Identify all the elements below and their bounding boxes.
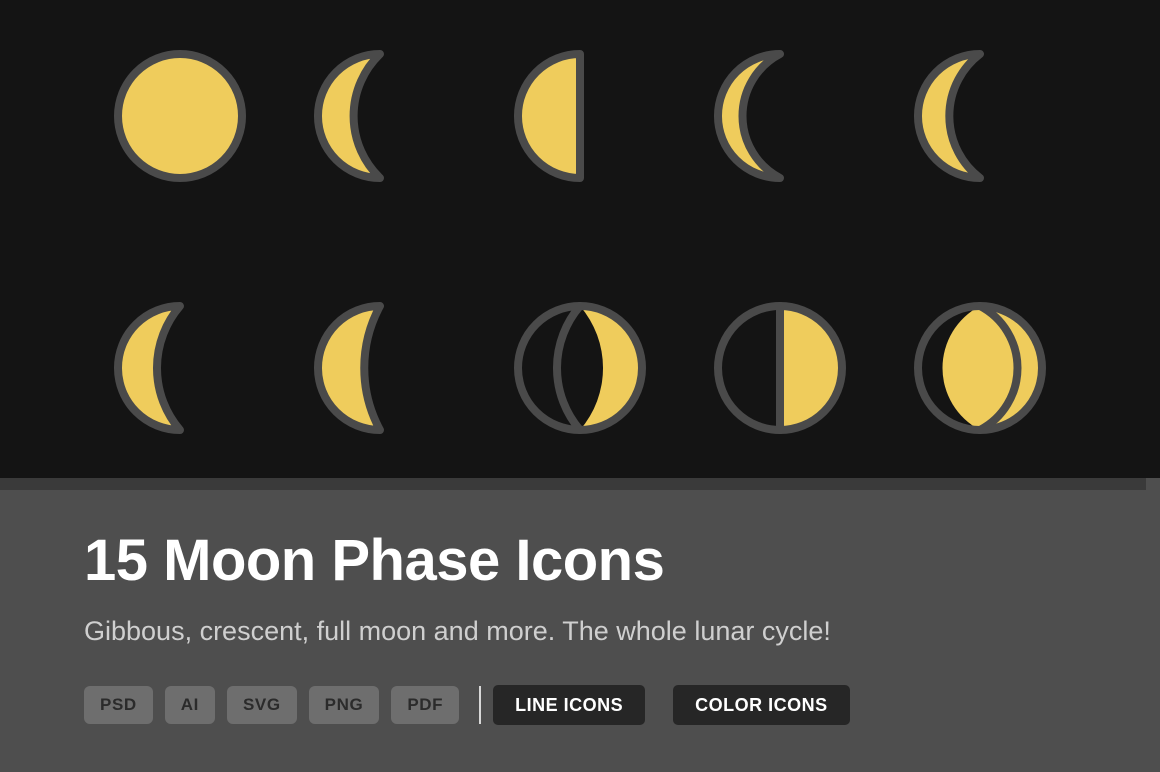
page-title: 15 Moon Phase Icons (84, 532, 664, 590)
page-subtitle: Gibbous, crescent, full moon and more. T… (84, 618, 831, 645)
color-icons-button[interactable]: COLOR ICONS (673, 685, 850, 725)
action-bar: PSD AI SVG PNG PDF LINE ICONS COLOR ICON… (84, 685, 878, 725)
preview-root: 15 Moon Phase Icons Gibbous, crescent, f… (0, 0, 1160, 772)
line-icons-button[interactable]: LINE ICONS (493, 685, 645, 725)
half-moon-icon[interactable] (480, 16, 680, 216)
info-panel: 15 Moon Phase Icons Gibbous, crescent, f… (0, 490, 1160, 772)
icon-row-bottom (0, 268, 1160, 468)
outline-gibbous-moon-icon[interactable] (880, 268, 1080, 468)
icon-showcase-panel (0, 0, 1160, 478)
waning-gibbous-moon-icon[interactable] (280, 16, 480, 216)
full-moon-icon[interactable] (80, 16, 280, 216)
outline-crescent-moon-icon[interactable] (480, 268, 680, 468)
crescent-moon-icon[interactable] (880, 16, 1080, 216)
format-badge-psd[interactable]: PSD (84, 686, 153, 724)
action-bar-divider (479, 686, 481, 724)
wide-crescent-moon-icon[interactable] (80, 268, 280, 468)
panel-divider (0, 478, 1146, 490)
outline-half-moon-icon[interactable] (680, 268, 880, 468)
thick-crescent-moon-icon[interactable] (280, 268, 480, 468)
format-badge-svg[interactable]: SVG (227, 686, 297, 724)
panel-divider-edge (1146, 478, 1160, 490)
format-badge-pdf[interactable]: PDF (391, 686, 459, 724)
thin-crescent-moon-icon[interactable] (680, 16, 880, 216)
format-badge-ai[interactable]: AI (165, 686, 215, 724)
icon-row-top (0, 16, 1160, 216)
format-badge-png[interactable]: PNG (309, 686, 380, 724)
